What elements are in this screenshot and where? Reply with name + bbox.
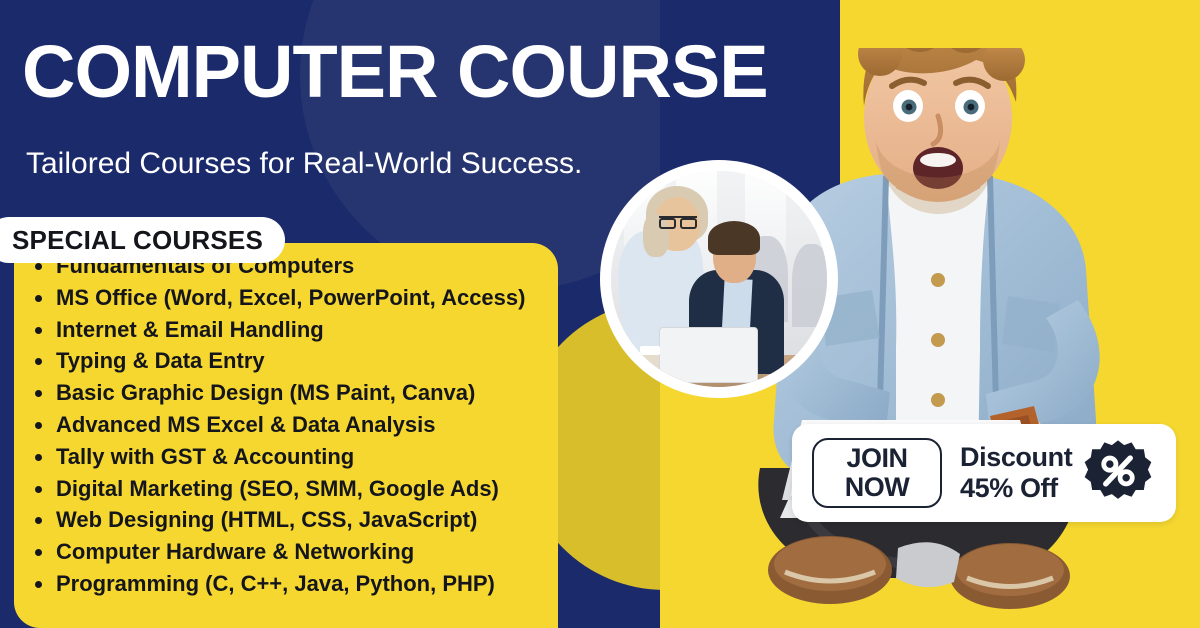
join-now-button[interactable]: JOIN NOW	[812, 438, 942, 508]
course-list: Fundamentals of Computers MS Office (Wor…	[14, 250, 614, 600]
discount-value: 45% Off	[960, 473, 1072, 504]
discount-label: Discount	[960, 442, 1072, 473]
join-now-button-line2: NOW	[845, 473, 909, 502]
discount-text: Discount 45% Off	[960, 442, 1072, 504]
join-now-button-line1: JOIN	[846, 444, 907, 473]
office-inset-photo	[600, 160, 838, 398]
list-item: Advanced MS Excel & Data Analysis	[14, 409, 614, 441]
list-item: MS Office (Word, Excel, PowerPoint, Acce…	[14, 282, 614, 314]
special-courses-badge-label: SPECIAL COURSES	[12, 225, 263, 256]
list-item: Computer Hardware & Networking	[14, 536, 614, 568]
special-courses-badge: SPECIAL COURSES	[0, 217, 285, 263]
promo-banner: COMPUTER COURSE Tailored Courses for Rea…	[0, 0, 1200, 628]
list-item: Basic Graphic Design (MS Paint, Canva)	[14, 377, 614, 409]
list-item: Digital Marketing (SEO, SMM, Google Ads)	[14, 473, 614, 505]
page-title: COMPUTER COURSE	[22, 33, 768, 111]
list-item: Programming (C, C++, Java, Python, PHP)	[14, 568, 614, 600]
cta-card: JOIN NOW Discount 45% Off	[792, 424, 1176, 522]
percent-badge-icon	[1084, 439, 1152, 507]
page-subtitle: Tailored Courses for Real-World Success.	[26, 146, 582, 182]
list-item: Internet & Email Handling	[14, 314, 614, 346]
list-item: Typing & Data Entry	[14, 345, 614, 377]
office-inset-photo-image	[611, 171, 827, 387]
list-item: Web Designing (HTML, CSS, JavaScript)	[14, 504, 614, 536]
list-item: Tally with GST & Accounting	[14, 441, 614, 473]
